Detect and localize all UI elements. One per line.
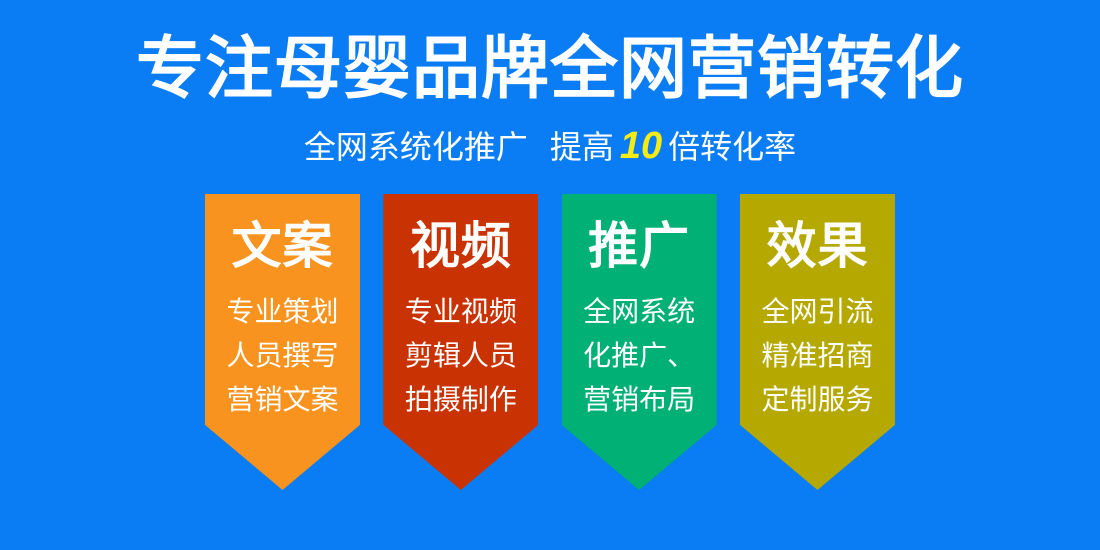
card-line: 营销文案	[205, 378, 360, 422]
service-card-results[interactable]: 效果 全网引流 精准招商 定制服务	[740, 194, 895, 490]
card-line: 剪辑人员	[383, 334, 538, 378]
banner-subtitle: 全网系统化推广提高10倍转化率	[0, 124, 1100, 169]
card-description: 专业策划 人员撰写 营销文案	[205, 290, 360, 422]
subtitle-part-two: 提高	[550, 129, 614, 165]
card-title: 效果	[740, 216, 895, 276]
card-description: 专业视频 剪辑人员 拍摄制作	[383, 290, 538, 422]
promo-banner: 专注母婴品牌全网营销转化 全网系统化推广提高10倍转化率 文案 专业策划 人员撰…	[0, 0, 1100, 550]
card-title: 推广	[562, 216, 717, 276]
card-line: 定制服务	[740, 378, 895, 422]
card-line: 化推广、	[562, 334, 717, 378]
subtitle-highlight-number: 10	[614, 125, 668, 167]
card-line: 精准招商	[740, 334, 895, 378]
card-line: 专业策划	[205, 290, 360, 334]
service-card-list: 文案 专业策划 人员撰写 营销文案 视频 专业视频 剪辑人员 拍摄制作 推广 全…	[205, 194, 895, 494]
card-title: 视频	[383, 216, 538, 276]
card-line: 拍摄制作	[383, 378, 538, 422]
card-description: 全网系统 化推广、 营销布局	[562, 290, 717, 422]
card-line: 人员撰写	[205, 334, 360, 378]
card-line: 营销布局	[562, 378, 717, 422]
subtitle-part-three: 倍转化率	[668, 129, 796, 165]
service-card-promotion[interactable]: 推广 全网系统 化推广、 营销布局	[562, 194, 717, 490]
banner-headline: 专注母婴品牌全网营销转化	[0, 28, 1100, 110]
service-card-copywriting[interactable]: 文案 专业策划 人员撰写 营销文案	[205, 194, 360, 490]
card-title: 文案	[205, 216, 360, 276]
service-card-video[interactable]: 视频 专业视频 剪辑人员 拍摄制作	[383, 194, 538, 490]
card-description: 全网引流 精准招商 定制服务	[740, 290, 895, 422]
card-line: 全网系统	[562, 290, 717, 334]
card-line: 全网引流	[740, 290, 895, 334]
card-line: 专业视频	[383, 290, 538, 334]
subtitle-part-one: 全网系统化推广	[304, 129, 528, 165]
